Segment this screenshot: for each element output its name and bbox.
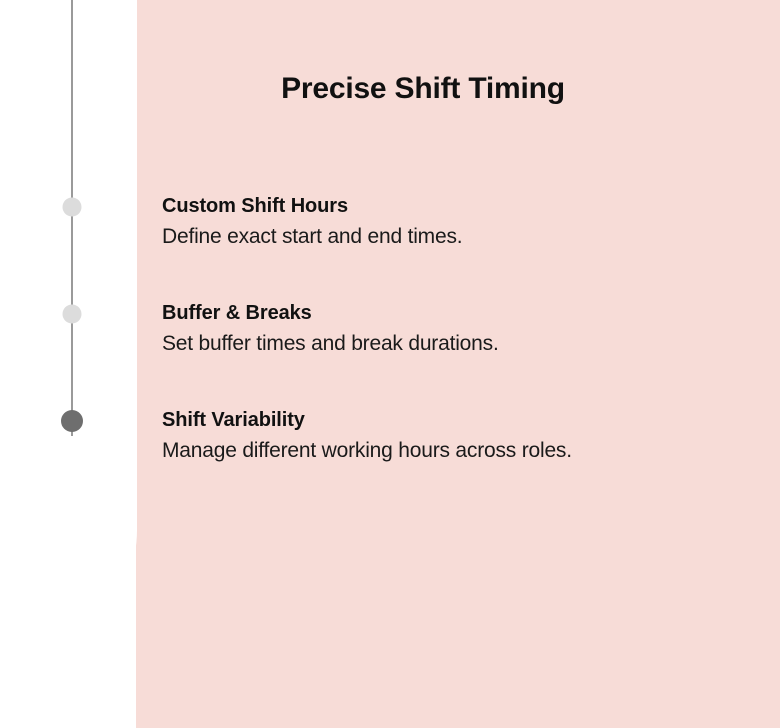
- feature-description: Define exact start and end times.: [162, 222, 762, 252]
- feature-list: Custom Shift Hours Define exact start an…: [162, 193, 762, 514]
- left-white-panel: [0, 0, 137, 656]
- feature-description: Manage different working hours across ro…: [162, 436, 762, 466]
- feature-panel-content: Precise Shift Timing Custom Shift Hours …: [136, 0, 780, 728]
- feature-heading: Shift Variability: [162, 407, 762, 433]
- list-item: Custom Shift Hours Define exact start an…: [162, 193, 762, 300]
- page-title: Precise Shift Timing: [136, 72, 710, 106]
- feature-heading: Buffer & Breaks: [162, 300, 762, 326]
- list-item: Shift Variability Manage different worki…: [162, 407, 762, 514]
- feature-heading: Custom Shift Hours: [162, 193, 762, 219]
- feature-description: Set buffer times and break durations.: [162, 329, 762, 359]
- list-item: Buffer & Breaks Set buffer times and bre…: [162, 300, 762, 407]
- slide-canvas: Precise Shift Timing Custom Shift Hours …: [0, 0, 780, 728]
